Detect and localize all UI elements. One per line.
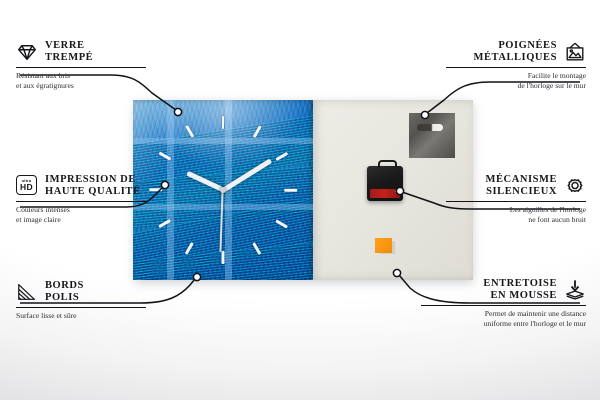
callout-title: POIGNÉES MÉTALLIQUES: [474, 40, 557, 64]
hour-tick: [222, 251, 225, 264]
callout-bords-polis: BORDS POLIS Surface lisse et sûre: [16, 280, 146, 321]
callout-title: IMPRESSION DE HAUTE QUALITÉ: [45, 174, 141, 198]
callout-subtitle: Permet de maintenir une distance uniform…: [421, 309, 586, 328]
product-image: [133, 100, 473, 280]
callout-entretoise-en-mousse: ENTRETOISE EN MOUSSE Permet de maintenir…: [421, 278, 586, 328]
callout-impression-haute-qualite: ultra HD IMPRESSION DE HAUTE QUALITÉ Cou…: [16, 174, 146, 224]
hour-tick: [252, 125, 261, 138]
gear-icon: [564, 175, 586, 197]
callout-poignees-metalliques: POIGNÉES MÉTALLIQUES Facilite le montage…: [446, 40, 586, 90]
hour-tick: [149, 189, 162, 192]
foam-spacer: [375, 238, 392, 253]
callout-mecanisme-silencieux: MÉCANISME SILENCIEUX Les aiguilles de l'…: [446, 174, 586, 224]
polished-edge-icon: [16, 281, 38, 303]
hour-tick: [185, 242, 194, 255]
diamond-icon: [16, 41, 38, 63]
callout-subtitle: Couleurs intenses et image claire: [16, 205, 146, 224]
callout-title: VERRE TREMPÉ: [45, 40, 93, 64]
callout-subtitle: Les aiguilles de l'horloge ne font aucun…: [446, 205, 586, 224]
hour-hand: [186, 171, 224, 192]
callout-subtitle: Résistant aux bris et aux égratignures: [16, 71, 146, 90]
callout-rule: [16, 307, 146, 308]
second-hand: [220, 190, 224, 252]
hour-tick: [284, 189, 297, 192]
infographic-stage: VERRE TREMPÉ Résistant aux bris et aux é…: [0, 0, 600, 400]
hands-center-cap: [220, 187, 226, 193]
callout-rule: [16, 201, 146, 202]
battery: [370, 189, 400, 198]
hour-tick: [252, 242, 261, 255]
ultra-hd-badge-icon: ultra HD: [16, 175, 38, 197]
quartz-mechanism: [367, 166, 403, 201]
callout-title: ENTRETOISE EN MOUSSE: [483, 278, 557, 302]
clock-dial: [133, 100, 313, 280]
metal-hanger-plate: [409, 113, 455, 158]
hour-tick: [185, 125, 194, 138]
hour-tick: [275, 152, 288, 161]
hour-tick: [158, 219, 171, 228]
callout-rule: [421, 305, 586, 306]
minute-hand: [222, 158, 272, 191]
callout-subtitle: Facilite le montage de l'horloge sur le …: [446, 71, 586, 90]
callout-title: BORDS POLIS: [45, 280, 84, 304]
callout-title: MÉCANISME SILENCIEUX: [486, 174, 557, 198]
foam-spacer-arrow-icon: [564, 279, 586, 301]
picture-hanger-icon: [564, 41, 586, 63]
hour-tick: [222, 116, 225, 129]
callout-rule: [446, 67, 586, 68]
callout-verre-trempe: VERRE TREMPÉ Résistant aux bris et aux é…: [16, 40, 146, 90]
ultra-hd-bottom-text: HD: [20, 183, 33, 192]
glass-clock-face: [133, 100, 313, 280]
callout-subtitle: Surface lisse et sûre: [16, 311, 146, 321]
callout-rule: [16, 67, 146, 68]
hour-tick: [275, 219, 288, 228]
hour-tick: [158, 152, 171, 161]
callout-rule: [446, 201, 586, 202]
